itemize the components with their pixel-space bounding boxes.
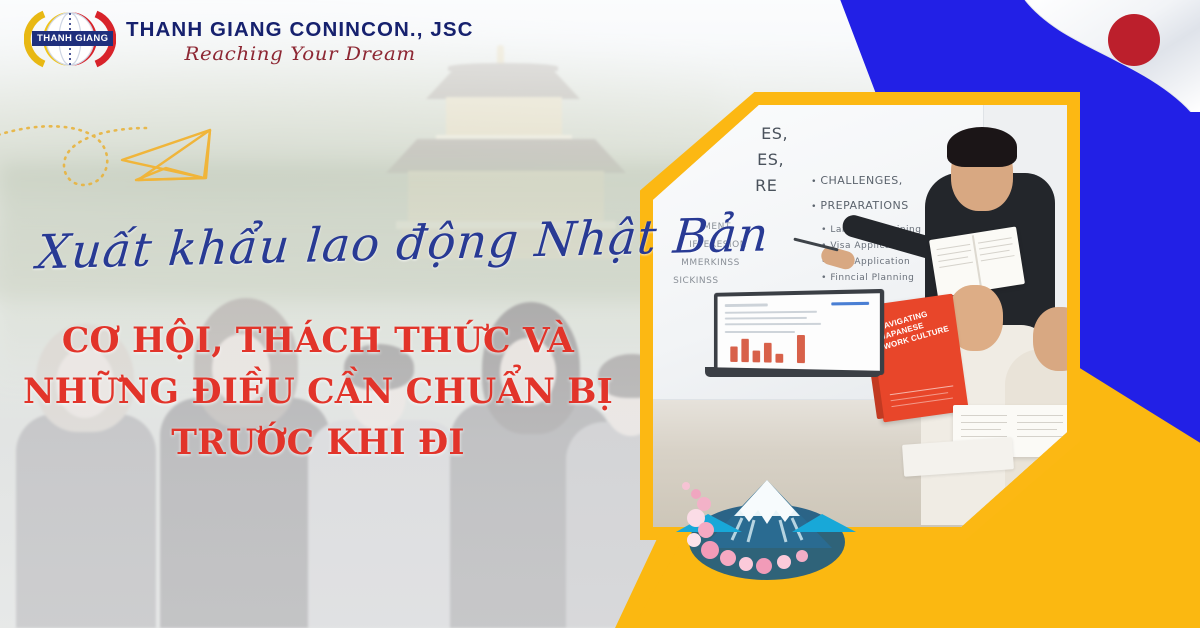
company-slogan: Reaching Your Dream [184,43,415,65]
whiteboard-cut-heading-1: ES, [761,124,788,143]
classroom-scene: ES, ES, RE • CHALLENGES, • PREPARATIONS … [653,105,1067,527]
headline-line-3: TRƯỚC KHI ĐI [0,418,636,469]
brand-wordmark: THANH GIANG CONINCON., JSC Reaching Your… [126,14,474,65]
whiteboard-cut-heading-3: RE [755,176,777,195]
laptop-lid [714,289,884,375]
book-title-text: NAVIGATING JAPANESE WORK CULTURE [877,304,953,352]
headline-line-1: CƠ HỘI, THÁCH THỨC VÀ [0,316,636,367]
japan-flag-icon [1015,0,1200,112]
company-name: THANH GIANG CONINCON., JSC [126,18,474,42]
laptop-screen [718,293,880,371]
whiteboard-heading-preparations-label: PREPARATIONS [820,199,908,212]
logo-mark-icon: THANH GIANG [24,8,116,70]
whiteboard-heading-challenges-label: CHALLENGES, [820,174,902,187]
student-figure-2 [993,273,1067,523]
japan-flag [1015,0,1200,112]
mount-fuji-badge [672,470,862,590]
whiteboard-cut-heading-2: ES, [757,150,784,169]
headline-line-2: NHỮNG ĐIỀU CẦN CHUẨN BỊ [0,367,636,418]
main-headline: CƠ HỘI, THÁCH THỨC VÀ NHỮNG ĐIỀU CẦN CHU… [0,316,636,469]
whiteboard-heading-challenges: • CHALLENGES, [811,174,903,187]
brand-logo[interactable]: THANH GIANG THANH GIANG CONINCON., JSC R… [24,8,474,70]
banner-root: ES, ES, RE • CHALLENGES, • PREPARATIONS … [0,0,1200,628]
whiteboard-heading-preparations: • PREPARATIONS [811,199,909,212]
hexagon-photo: ES, ES, RE • CHALLENGES, • PREPARATIONS … [653,105,1067,527]
mount-fuji-icon [672,470,862,590]
logo-badge-text: THANH GIANG [32,31,113,46]
script-subtitle: Xuất khẩu lao động Nhật Bản [33,211,639,306]
whiteboard-left-4: SICKINSS [673,276,718,286]
teacher-hair [947,127,1017,167]
